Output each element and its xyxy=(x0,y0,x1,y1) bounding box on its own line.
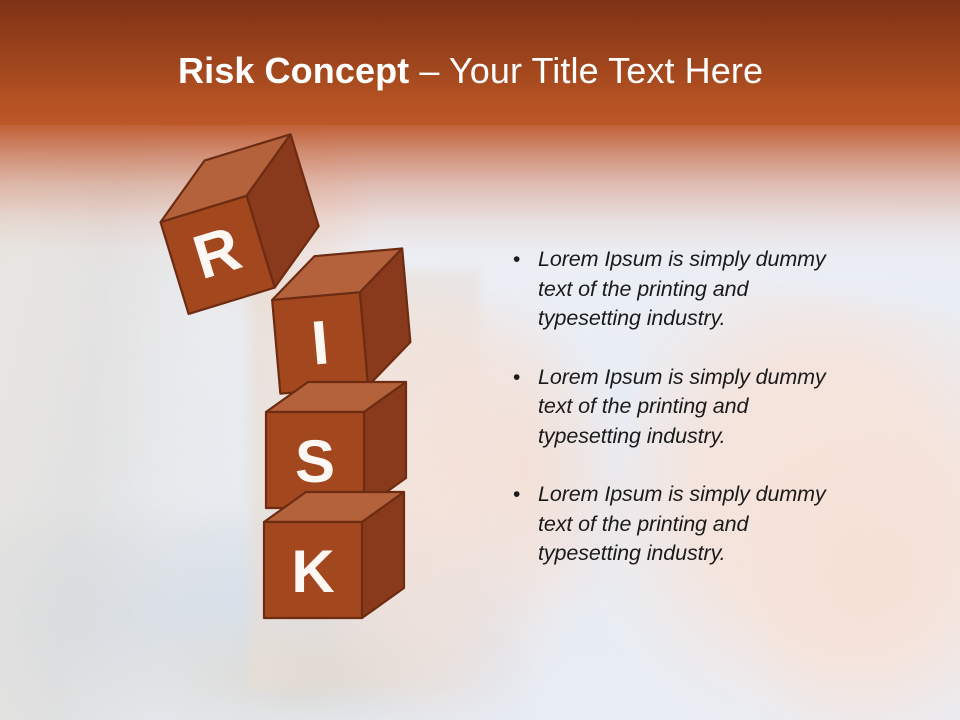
list-item: • Lorem Ipsum is simply dummy text of th… xyxy=(508,480,856,569)
bullet-list: • Lorem Ipsum is simply dummy text of th… xyxy=(508,245,856,569)
bullet-icon: • xyxy=(508,363,538,393)
cube-k[interactable]: K xyxy=(256,482,426,642)
list-item: • Lorem Ipsum is simply dummy text of th… xyxy=(508,245,856,334)
list-item: • Lorem Ipsum is simply dummy text of th… xyxy=(508,363,856,452)
cube-k-letter: K xyxy=(291,538,334,605)
page-title: Risk Concept – Your Title Text Here xyxy=(178,49,763,93)
slide: Risk Concept – Your Title Text Here R xyxy=(0,0,960,720)
bullet-icon: • xyxy=(508,480,538,510)
page-title-bold: Risk Concept xyxy=(178,50,409,91)
bullet-icon: • xyxy=(508,245,538,275)
bullet-text: Lorem Ipsum is simply dummy text of the … xyxy=(538,363,856,452)
page-title-regular: – Your Title Text Here xyxy=(409,50,763,91)
bullet-text: Lorem Ipsum is simply dummy text of the … xyxy=(538,480,856,569)
bullet-text: Lorem Ipsum is simply dummy text of the … xyxy=(538,245,856,334)
